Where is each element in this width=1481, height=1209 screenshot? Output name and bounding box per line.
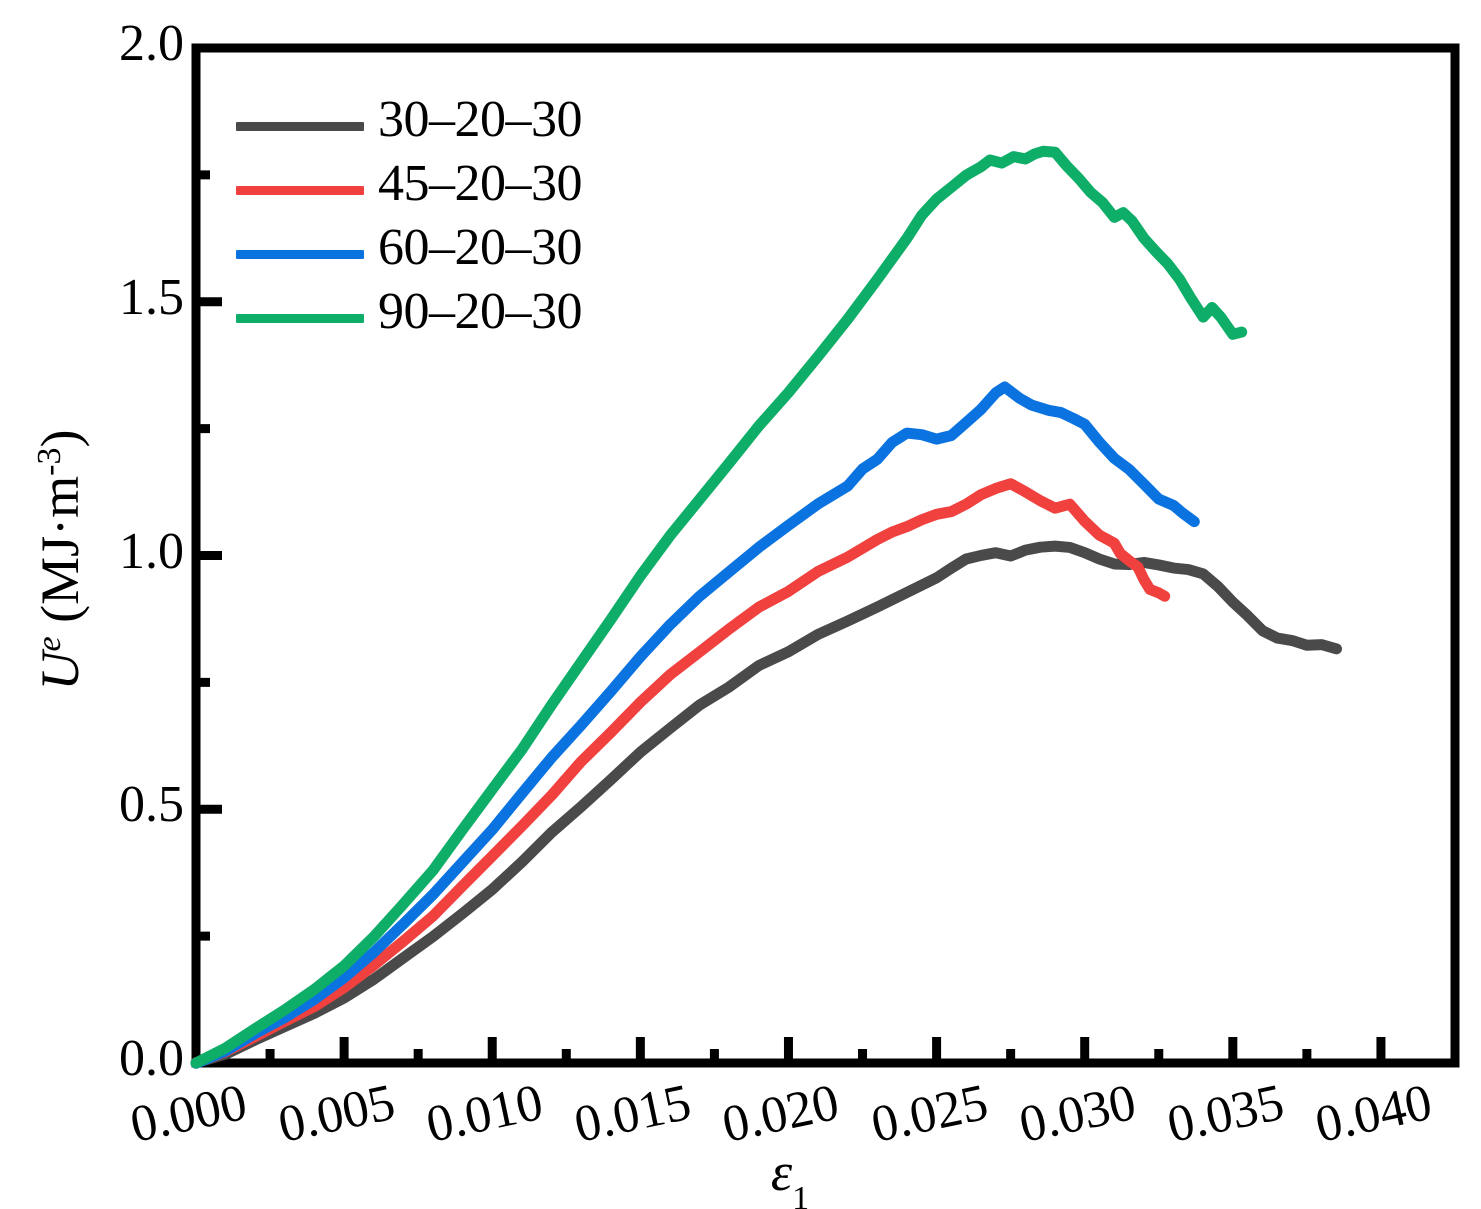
x-axis-title-symbol: ε (771, 1142, 793, 1202)
series-line-30‒20‒30 (196, 546, 1337, 1063)
series-line-90‒20‒30 (196, 151, 1242, 1063)
y-tick-label-0: 0.0 (100, 1029, 184, 1088)
legend-swatch-45‒20‒30 (236, 186, 364, 195)
y-axis-title-superscript: e (31, 636, 68, 651)
x-axis-title-subscript: 1 (792, 1180, 809, 1209)
legend-label-45‒20‒30: 45‒20‒30 (378, 154, 582, 213)
y-axis-title-unit-exponent: -3 (31, 448, 68, 476)
y-tick-label-2: 1.0 (100, 522, 184, 581)
y-tick-label-3: 1.5 (100, 268, 184, 327)
x-axis-title: ε1 (771, 1142, 809, 1209)
legend-swatch-90‒20‒30 (236, 314, 364, 323)
legend-label-30‒20‒30: 30‒20‒30 (378, 90, 582, 149)
plot-canvas: Ue (MJ·m-3) ε1 (0, 0, 1481, 1209)
y-axis-title-symbol: U (30, 648, 90, 690)
legend-swatch-30‒20‒30 (236, 122, 364, 131)
legend-label-60‒20‒30: 60‒20‒30 (378, 218, 582, 277)
data-series-group (196, 151, 1337, 1063)
legend-swatch-60‒20‒30 (236, 250, 364, 259)
y-axis-title-unit-close: ) (30, 430, 90, 448)
y-axis-title-unit: (MJ·m (30, 476, 90, 637)
chart-figure: Ue (MJ·m-3) ε1 0.0000.0050.0100.0150.020… (0, 0, 1481, 1209)
y-axis-title: Ue (MJ·m-3) (30, 430, 90, 691)
y-tick-label-4: 2.0 (100, 14, 184, 73)
legend-label-90‒20‒30: 90‒20‒30 (378, 282, 582, 341)
y-tick-label-1: 0.5 (100, 775, 184, 834)
